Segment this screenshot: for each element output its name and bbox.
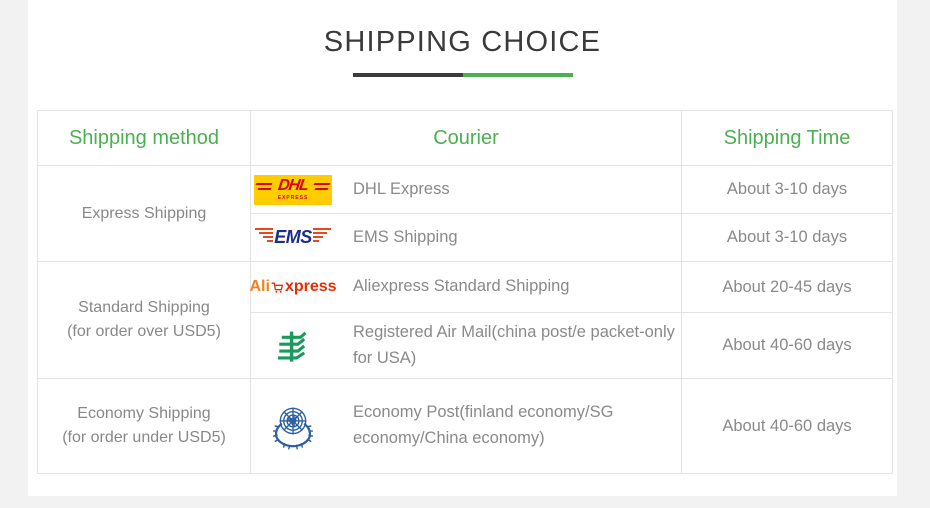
table-header-row: Shipping method Courier Shipping Time (38, 111, 893, 166)
courier-cell-aliexpress: Ali xpress (251, 262, 682, 313)
aliexpress-logo: Ali xpress (251, 265, 335, 309)
aliexpress-logo-part1: Ali (249, 278, 269, 296)
header-courier: Courier (251, 111, 682, 166)
method-sublabel: (for order over USD5) (38, 320, 250, 344)
method-cell-economy: Economy Shipping (for order under USD5) (38, 379, 251, 474)
courier-name: DHL Express (353, 177, 450, 203)
method-label: Economy Shipping (77, 405, 210, 422)
shipping-choice-card: SHIPPING CHOICE Shipping method Courier … (28, 0, 897, 496)
method-cell-standard: Standard Shipping (for order over USD5) (38, 262, 251, 379)
shipping-table: Shipping method Courier Shipping Time Ex… (37, 110, 893, 474)
courier-name: Economy Post(finland economy/SG economy/… (353, 400, 681, 451)
courier-cell-economy-post: Economy Post(finland economy/SG economy/… (251, 379, 682, 474)
shipping-time-cell: About 3-10 days (682, 214, 893, 262)
title-underline (353, 73, 573, 77)
underline-green-segment (463, 73, 573, 77)
method-label: Standard Shipping (78, 299, 210, 316)
courier-cell-china-post: Registered Air Mail(china post/e packet-… (251, 313, 682, 379)
un-logo (251, 404, 335, 448)
table-row: Standard Shipping (for order over USD5) … (38, 262, 893, 313)
method-label: Express Shipping (82, 205, 207, 222)
courier-cell-ems: EMS EMS Shipping (251, 214, 682, 262)
dhl-logo-subword: EXPRESS (278, 195, 309, 201)
underline-dark-segment (353, 73, 463, 77)
method-cell-express: Express Shipping (38, 166, 251, 262)
method-sublabel: (for order under USD5) (38, 426, 250, 450)
courier-name: EMS Shipping (353, 225, 458, 251)
table-row: Economy Shipping (for order under USD5) (38, 379, 893, 474)
ems-logo-word: EMS (274, 227, 312, 248)
table-row: Express Shipping DHL EXPRESS DHL Expr (38, 166, 893, 214)
dhl-logo: DHL EXPRESS (251, 168, 335, 212)
shipping-time-cell: About 40-60 days (682, 379, 893, 474)
header-shipping-method: Shipping method (38, 111, 251, 166)
shopping-cart-icon (271, 281, 284, 294)
courier-name: Registered Air Mail(china post/e packet-… (353, 320, 681, 371)
courier-name: Aliexpress Standard Shipping (353, 274, 569, 300)
china-post-logo (251, 324, 335, 368)
title-block: SHIPPING CHOICE (28, 0, 897, 77)
page-title: SHIPPING CHOICE (28, 28, 897, 57)
ems-logo: EMS (251, 216, 335, 260)
shipping-time-cell: About 20-45 days (682, 262, 893, 313)
shipping-time-cell: About 3-10 days (682, 166, 893, 214)
header-shipping-time: Shipping Time (682, 111, 893, 166)
aliexpress-logo-part2: xpress (285, 278, 337, 296)
courier-cell-dhl: DHL EXPRESS DHL Express (251, 166, 682, 214)
dhl-logo-word: DHL (277, 178, 309, 194)
shipping-time-cell: About 40-60 days (682, 313, 893, 379)
